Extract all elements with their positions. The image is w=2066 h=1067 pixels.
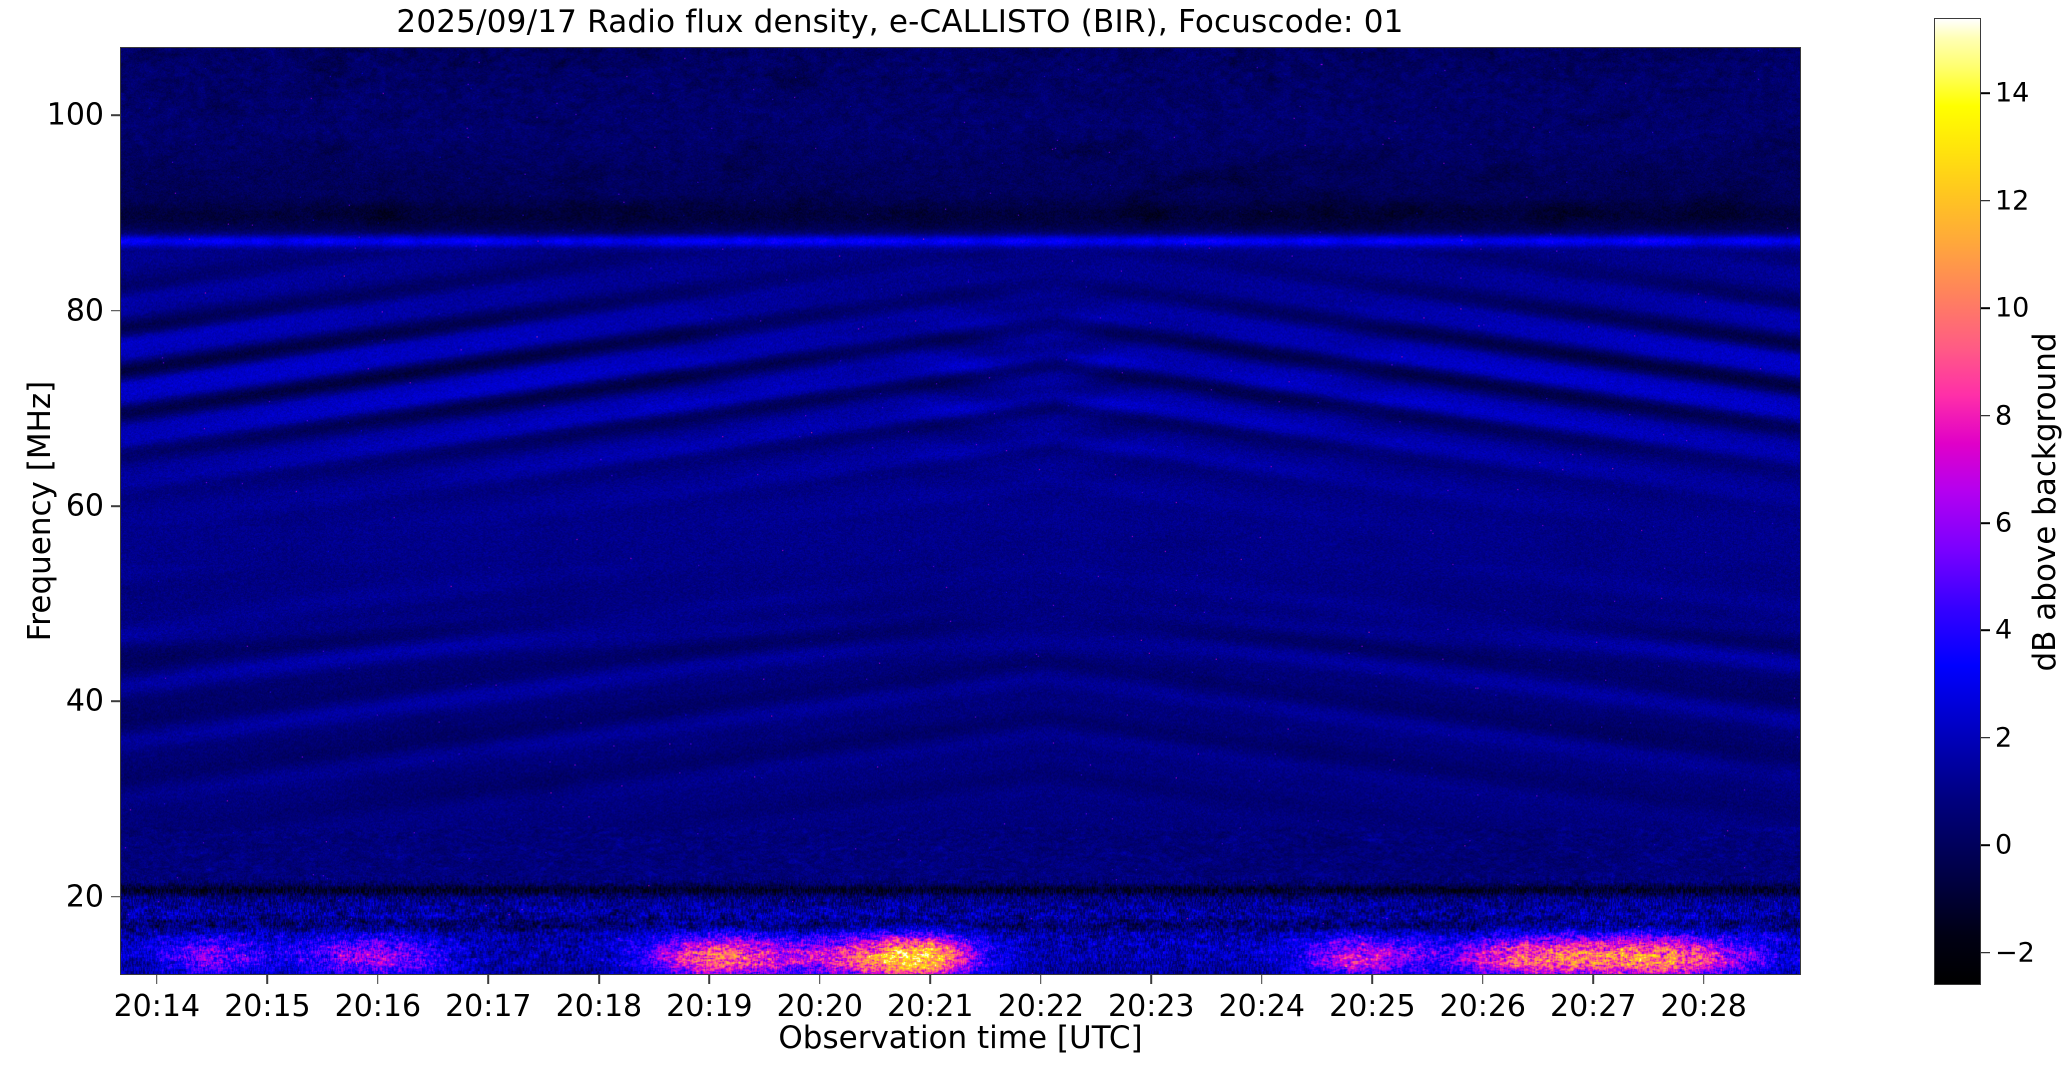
x-tick-label: 20:26: [1440, 989, 1526, 1024]
x-tick-label: 20:20: [777, 989, 863, 1024]
y-tick-label: 20: [0, 879, 104, 914]
x-tick-mark: [1372, 975, 1374, 984]
figure-canvas: 2025/09/17 Radio flux density, e-CALLIST…: [0, 0, 2066, 1067]
colorbar-label: dB above background: [2027, 167, 2063, 837]
colorbar-tick-label: 12: [1995, 185, 2029, 216]
x-tick-mark: [1703, 975, 1705, 984]
colorbar-tick-mark: [1981, 92, 1990, 94]
y-tick-mark: [111, 701, 120, 703]
x-tick-label: 20:25: [1329, 989, 1415, 1024]
y-tick-label: 60: [0, 489, 104, 524]
x-tick-label: 20:22: [998, 989, 1084, 1024]
x-tick-mark: [819, 975, 821, 984]
x-tick-label: 20:28: [1660, 989, 1746, 1024]
colorbar-tick-label: 2: [1995, 722, 2012, 753]
colorbar-tick-mark: [1981, 307, 1990, 309]
colorbar-tick-label: −2: [1995, 937, 2035, 968]
spectrogram-axes[interactable]: [120, 47, 1801, 975]
colorbar-tick-mark: [1981, 737, 1990, 739]
colorbar-tick-label: 14: [1995, 78, 2029, 109]
x-tick-label: 20:17: [445, 989, 531, 1024]
colorbar-tick-mark: [1981, 952, 1990, 954]
y-tick-mark: [111, 115, 120, 117]
x-tick-mark: [377, 975, 379, 984]
x-tick-label: 20:18: [556, 989, 642, 1024]
colorbar-tick-label: 10: [1995, 293, 2029, 324]
x-tick-mark: [1150, 975, 1152, 984]
colorbar-tick-mark: [1981, 200, 1990, 202]
colorbar-tick-mark: [1981, 415, 1990, 417]
colorbar-label-wrapper: dB above background: [2040, 18, 2050, 985]
y-tick-mark: [111, 505, 120, 507]
x-axis-label: Observation time [UTC]: [120, 1020, 1801, 1056]
y-tick-label: 80: [0, 293, 104, 328]
x-tick-label: 20:27: [1550, 989, 1636, 1024]
x-tick-mark: [1482, 975, 1484, 984]
colorbar-tick-label: 0: [1995, 830, 2012, 861]
x-tick-label: 20:16: [335, 989, 421, 1024]
colorbar-tick-mark: [1981, 522, 1990, 524]
colorbar-tick-label: 4: [1995, 615, 2012, 646]
x-tick-mark: [1261, 975, 1263, 984]
colorbar-tick-mark: [1981, 845, 1990, 847]
x-tick-label: 20:19: [666, 989, 752, 1024]
colorbar-tick-label: 8: [1995, 400, 2012, 431]
x-tick-label: 20:21: [887, 989, 973, 1024]
x-tick-label: 20:15: [224, 989, 310, 1024]
x-tick-mark: [1592, 975, 1594, 984]
colorbar-tick-label: 6: [1995, 507, 2012, 538]
x-tick-mark: [1040, 975, 1042, 984]
x-tick-mark: [267, 975, 269, 984]
y-tick-mark: [111, 310, 120, 312]
spectrogram-image: [121, 48, 1800, 974]
x-tick-label: 20:24: [1219, 989, 1305, 1024]
y-tick-label: 40: [0, 684, 104, 719]
chart-title: 2025/09/17 Radio flux density, e-CALLIST…: [0, 4, 1800, 40]
colorbar-tick-mark: [1981, 630, 1990, 632]
x-tick-mark: [156, 975, 158, 984]
x-tick-mark: [709, 975, 711, 984]
x-tick-label: 20:23: [1108, 989, 1194, 1024]
colorbar[interactable]: [1934, 18, 1981, 985]
y-tick-label: 100: [0, 98, 104, 133]
x-tick-mark: [929, 975, 931, 984]
y-tick-mark: [111, 896, 120, 898]
x-tick-mark: [488, 975, 490, 984]
x-tick-label: 20:14: [114, 989, 200, 1024]
x-tick-mark: [598, 975, 600, 984]
